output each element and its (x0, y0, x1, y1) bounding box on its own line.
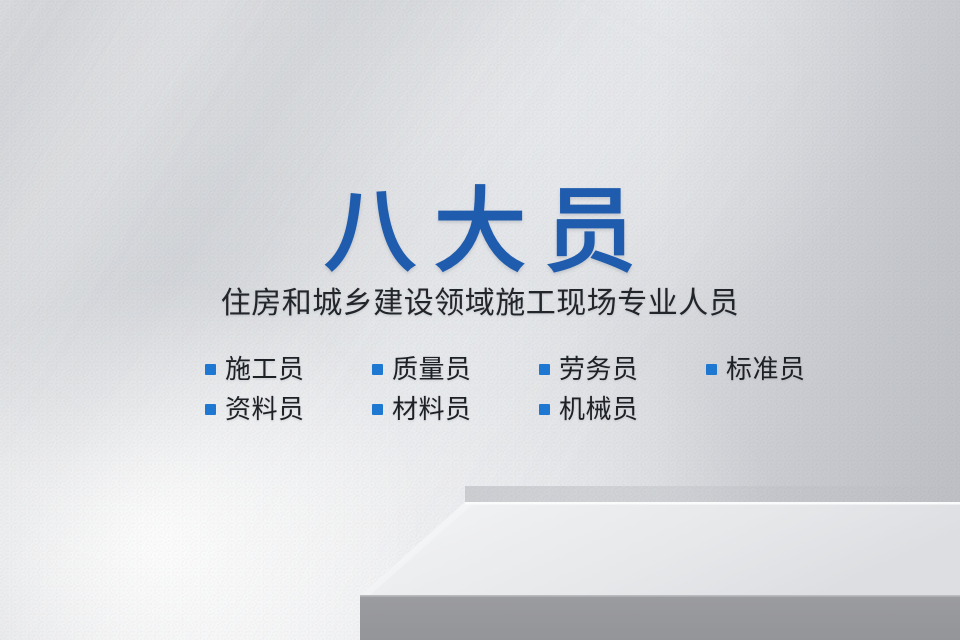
role-item-jixieyuan[interactable]: 机械员 (539, 396, 706, 422)
square-bullet-icon (205, 404, 216, 415)
role-row: 资料员 材料员 机械员 (0, 388, 960, 430)
role-item-ziliaoyuan[interactable]: 资料员 (205, 396, 372, 422)
role-item-biaozhunyuan[interactable]: 标准员 (706, 356, 873, 382)
role-item-cailiaoyuan[interactable]: 材料员 (372, 396, 539, 422)
square-bullet-icon (706, 364, 717, 375)
role-label: 标准员 (726, 356, 806, 382)
square-bullet-icon (539, 364, 550, 375)
podium-contact-shadow (465, 486, 960, 504)
role-label: 机械员 (559, 396, 639, 422)
square-bullet-icon (539, 404, 550, 415)
square-bullet-icon (372, 364, 383, 375)
role-item-shigongyuan[interactable]: 施工员 (205, 356, 372, 382)
role-row: 施工员 质量员 劳务员 标准员 (0, 348, 960, 390)
role-label: 资料员 (225, 396, 305, 422)
role-label: 施工员 (225, 356, 305, 382)
page-subtitle: 住房和城乡建设领域施工现场专业人员 (0, 289, 960, 319)
role-item-zhiliangyuan[interactable]: 质量员 (372, 356, 539, 382)
role-label: 劳务员 (559, 356, 639, 382)
page-title: 八大员 (0, 186, 960, 278)
square-bullet-icon (372, 404, 383, 415)
podium-top-rim (465, 502, 960, 505)
poster-stage: 八大员 住房和城乡建设领域施工现场专业人员 施工员 质量员 劳务员 (0, 0, 960, 640)
podium-front-edge-line (360, 595, 960, 597)
podium-front-face (360, 596, 960, 640)
role-label: 材料员 (392, 396, 472, 422)
podium (0, 0, 960, 640)
role-list: 施工员 质量员 劳务员 标准员 资料员 (0, 348, 960, 430)
square-bullet-icon (205, 364, 216, 375)
role-item-laowuyuan[interactable]: 劳务员 (539, 356, 706, 382)
role-label: 质量员 (392, 356, 472, 382)
